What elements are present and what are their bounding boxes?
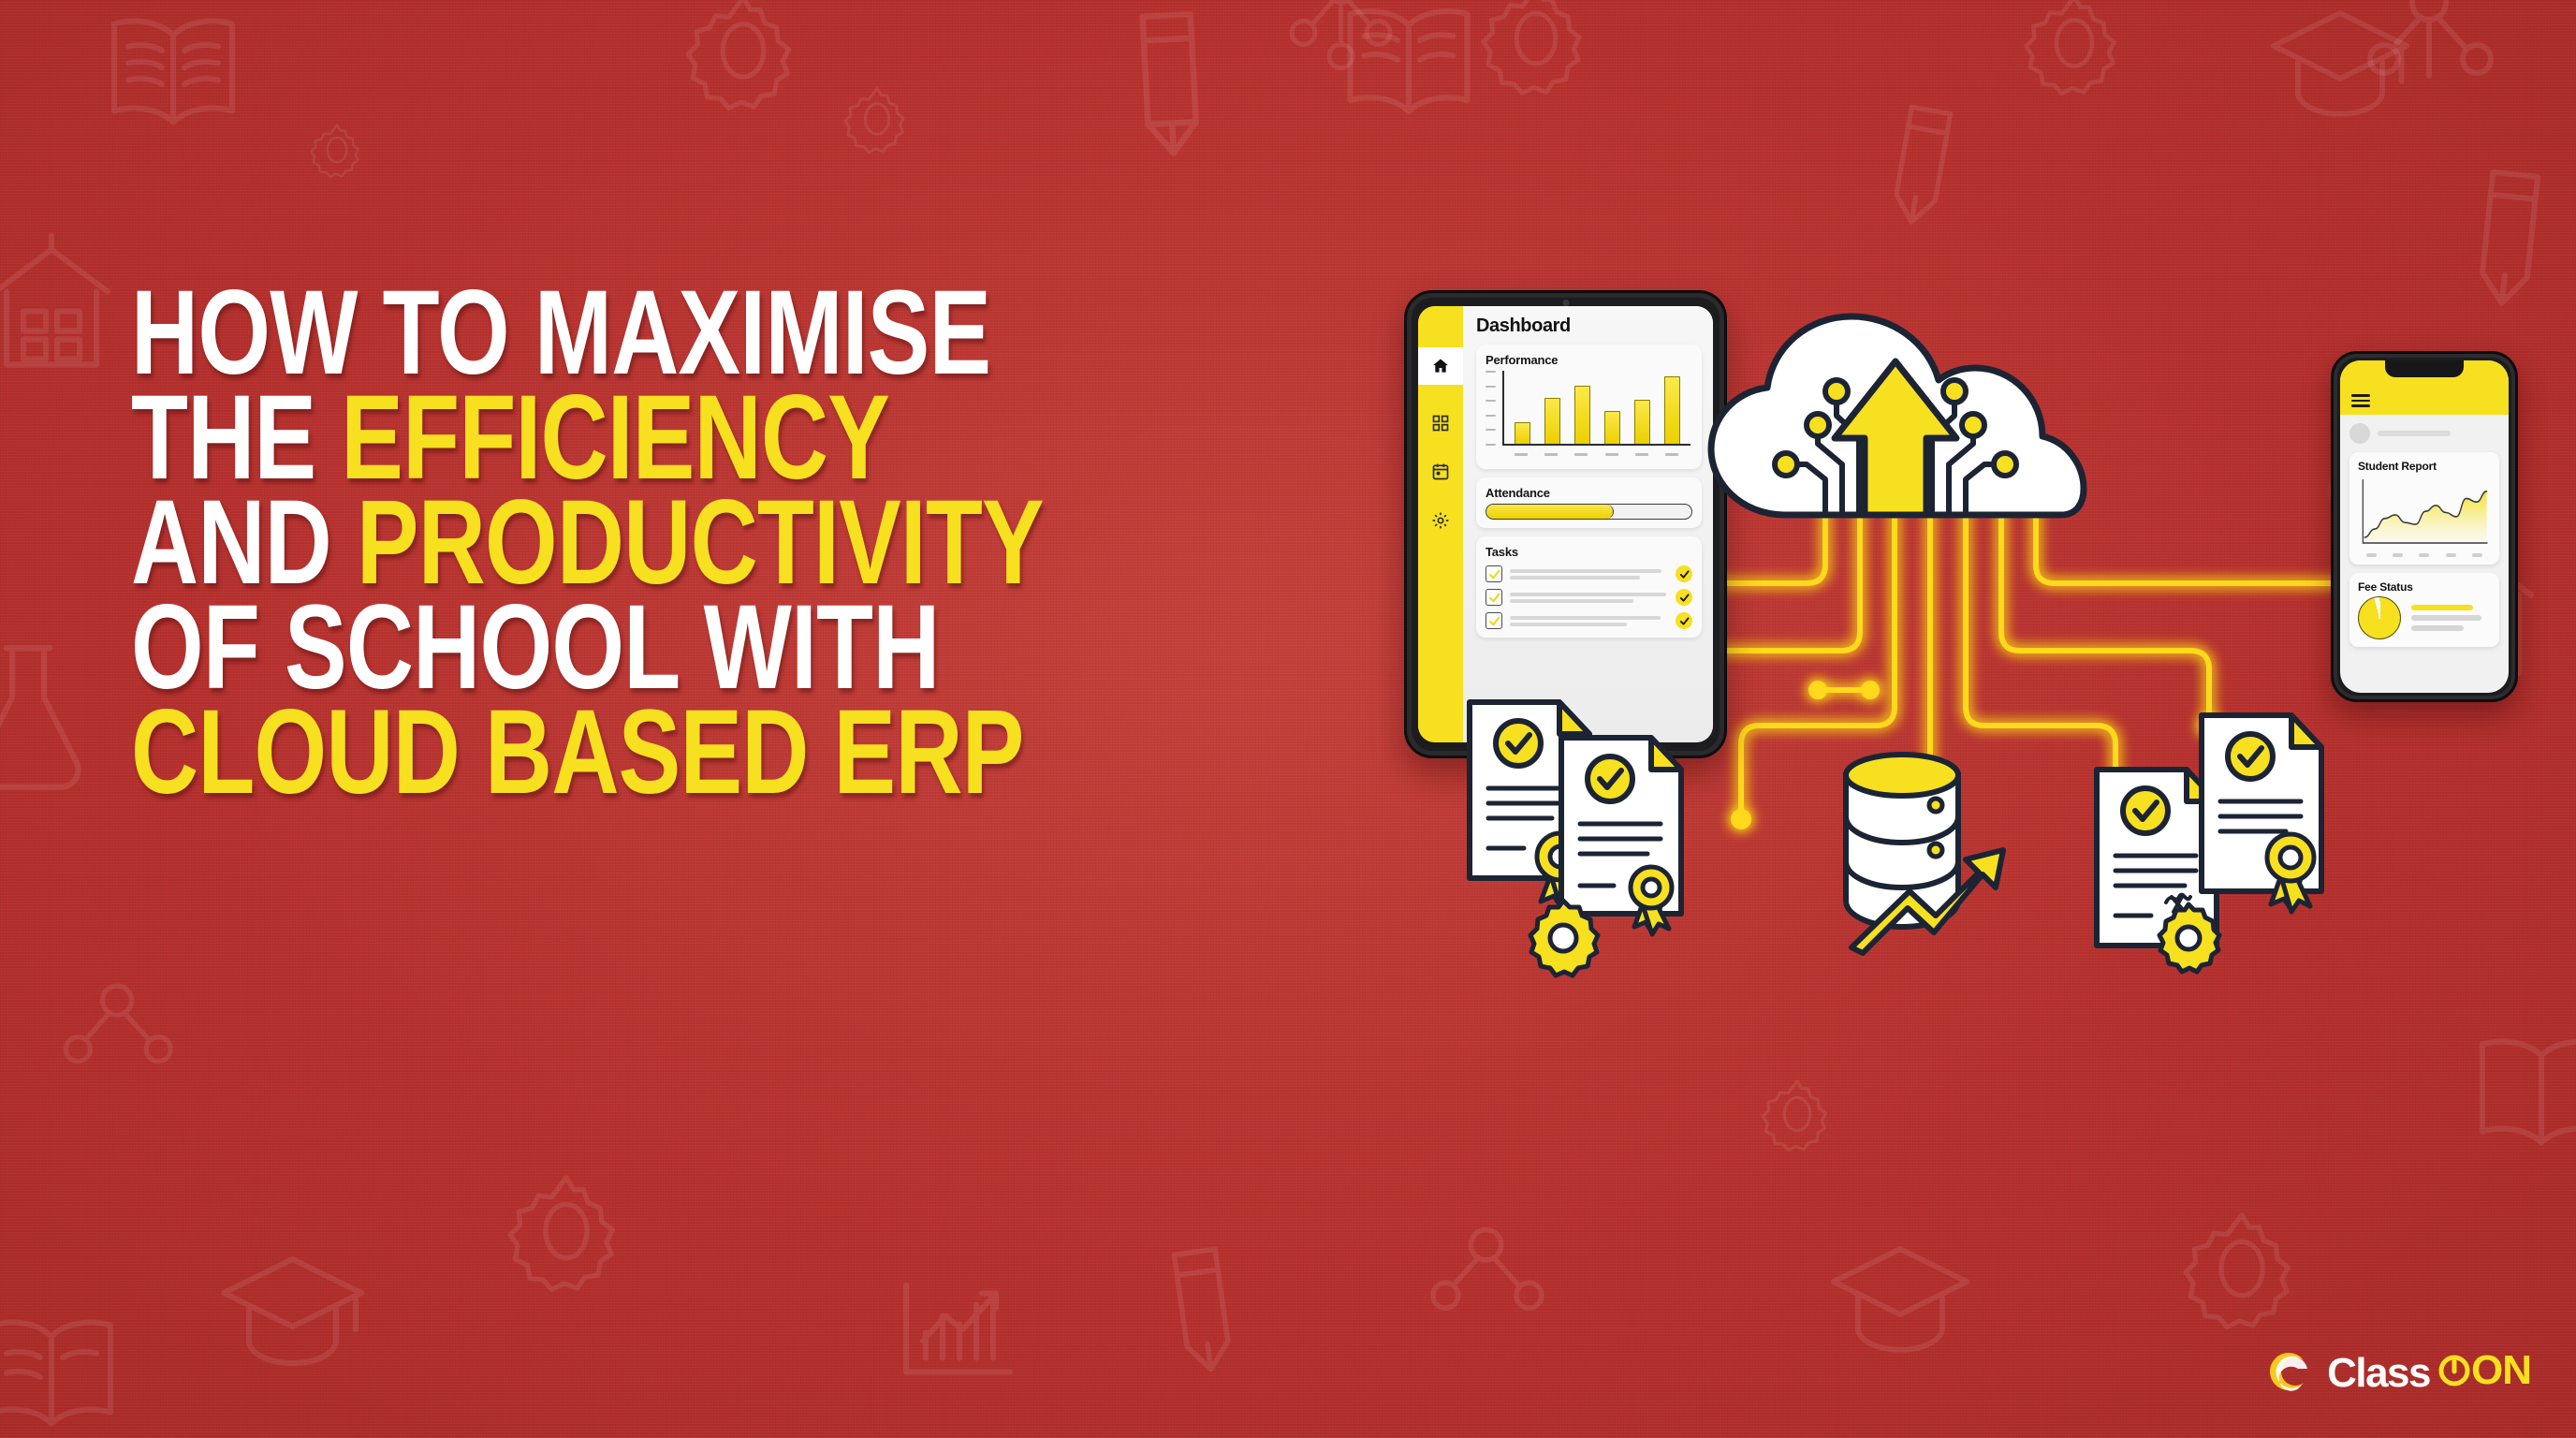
- graduation-cap-icon: [215, 1245, 370, 1372]
- fee-status-row: [2358, 596, 2491, 639]
- open-book-icon: [103, 9, 243, 131]
- legend-bar: [2411, 625, 2464, 631]
- circuit-node: [1943, 380, 1966, 403]
- gear-icon: [683, 0, 803, 110]
- attendance-progress-track: [1486, 504, 1692, 520]
- bar: [1544, 398, 1560, 444]
- task-checkbox[interactable]: [1486, 589, 1502, 606]
- flask-icon: [0, 637, 94, 796]
- award-ribbon-icon: [1631, 867, 1672, 934]
- x-tick: [1635, 453, 1648, 456]
- x-tick: [1544, 453, 1558, 456]
- profile-name-placeholder: [2378, 431, 2451, 436]
- attendance-card: Attendance: [1476, 477, 1702, 528]
- x-tick: [1605, 453, 1618, 456]
- page-title: Dashboard: [1476, 315, 1702, 337]
- task-complete-badge: [1676, 589, 1692, 606]
- logo-word-class: Class: [2327, 1350, 2430, 1397]
- x-tick: [1515, 453, 1528, 456]
- circuit-node: [1775, 453, 1797, 476]
- gear-icon: [2181, 1208, 2303, 1329]
- x-tick: [1574, 453, 1588, 456]
- logo-word-on: ON: [2438, 1347, 2531, 1394]
- circuit-node: [1994, 453, 2016, 476]
- calendar-icon[interactable]: [1430, 462, 1451, 482]
- gear-icon: [505, 1170, 627, 1292]
- task-complete-badge: [1676, 612, 1692, 629]
- pencil-icon: [1105, 7, 1235, 163]
- logo-wordmark: Class ON: [2327, 1347, 2531, 1397]
- award-ribbon-icon: [2267, 834, 2314, 912]
- phone-content: Student Report: [2340, 415, 2509, 664]
- task-text-placeholder: [1510, 616, 1668, 626]
- performance-x-axis: [1502, 448, 1690, 461]
- molecule-icon: [56, 974, 178, 1095]
- student-report-x-ticks: [2358, 553, 2491, 557]
- bar-chart-icon: [889, 1273, 1030, 1395]
- avatar: [2349, 423, 2370, 444]
- task-row[interactable]: [1486, 612, 1692, 629]
- performance-card-title: Performance: [1486, 353, 1692, 367]
- molecule-icon: [2359, 0, 2499, 112]
- school-building-icon: [0, 225, 122, 384]
- student-report-area-chart: [2358, 476, 2491, 550]
- tasks-card: Tasks: [1476, 536, 1702, 638]
- task-text-placeholder: [1510, 593, 1668, 603]
- open-book-icon: [0, 1311, 122, 1432]
- phone-notch: [2385, 360, 2464, 377]
- bar: [1574, 386, 1590, 444]
- circuit-node: [1962, 414, 1984, 436]
- settings-gear-icon[interactable]: [1430, 510, 1451, 531]
- performance-y-axis: [1486, 371, 1499, 446]
- circuit-node: [1807, 414, 1829, 436]
- power-icon: [2438, 1355, 2470, 1387]
- bar: [1604, 411, 1620, 444]
- cloud-graphic: [1676, 281, 2115, 562]
- graduation-cap-icon: [1825, 1236, 1975, 1357]
- tablet-camera-icon: [1562, 300, 1569, 306]
- attendance-progress-fill: [1486, 505, 1614, 519]
- fee-status-title: Fee Status: [2358, 580, 2491, 594]
- headline-block: HOW TO MAXIMISE THE EFFICIENCY AND PRODU…: [131, 281, 1282, 805]
- circuit-node: [1825, 380, 1848, 403]
- legend-bar: [2411, 615, 2481, 621]
- molecule-icon: [1423, 1217, 1549, 1343]
- task-row[interactable]: [1486, 589, 1692, 606]
- bar: [1515, 422, 1530, 444]
- fee-status-pie-chart: [2358, 596, 2401, 639]
- erp-illustration: Dashboard Performance: [1329, 262, 2527, 1142]
- pencil-icon: [1862, 95, 1981, 237]
- task-text-placeholder: [1510, 569, 1668, 580]
- legend-bar-paid: [2411, 605, 2473, 610]
- brand-logo[interactable]: Class ON: [2264, 1346, 2531, 1397]
- y-tick: [1486, 386, 1496, 388]
- tasks-card-title: Tasks: [1486, 545, 1692, 559]
- student-report-title: Student Report: [2358, 460, 2491, 473]
- task-checkbox[interactable]: [1486, 612, 1502, 629]
- y-tick: [1486, 429, 1496, 431]
- gear-icon: [309, 122, 365, 178]
- performance-card: Performance: [1476, 345, 1702, 469]
- headline-line-5-text: CLOUD BASED ERP: [131, 685, 1024, 819]
- y-tick: [1486, 415, 1496, 417]
- task-complete-badge: [1676, 565, 1692, 582]
- student-report-card: Student Report: [2349, 452, 2499, 565]
- open-book-icon: [1339, 0, 1479, 120]
- phone-top-bar: [2340, 360, 2509, 415]
- headline-line-5: CLOUD BASED ERP: [131, 700, 1029, 805]
- task-row[interactable]: [1486, 565, 1692, 582]
- pencil-icon: [1143, 1239, 1263, 1383]
- tasks-list: [1486, 565, 1692, 629]
- attendance-card-title: Attendance: [1486, 486, 1692, 500]
- performance-bar-chart: [1486, 371, 1692, 461]
- classon-c-mark: [2264, 1346, 2315, 1397]
- fee-status-card: Fee Status: [2349, 573, 2499, 647]
- gear-icon: [842, 84, 912, 154]
- phone-device: Student Report: [2331, 351, 2518, 702]
- fee-status-legend: [2411, 605, 2491, 631]
- y-tick: [1486, 371, 1496, 373]
- y-tick: [1486, 444, 1496, 446]
- gear-icon: [2022, 0, 2127, 95]
- profile-row: [2349, 423, 2499, 444]
- logo-word-on-text: ON: [2471, 1347, 2531, 1394]
- hamburger-icon[interactable]: [2351, 394, 2370, 407]
- performance-plot-area: [1502, 371, 1690, 446]
- home-icon[interactable]: [1418, 347, 1463, 385]
- analytics-icon[interactable]: [1430, 413, 1451, 433]
- y-tick: [1486, 400, 1496, 402]
- documents-and-database: [1442, 665, 2424, 974]
- bar: [1634, 400, 1650, 444]
- task-checkbox[interactable]: [1486, 565, 1502, 582]
- gear-icon: [1479, 0, 1593, 95]
- phone-screen: Student Report: [2340, 360, 2509, 693]
